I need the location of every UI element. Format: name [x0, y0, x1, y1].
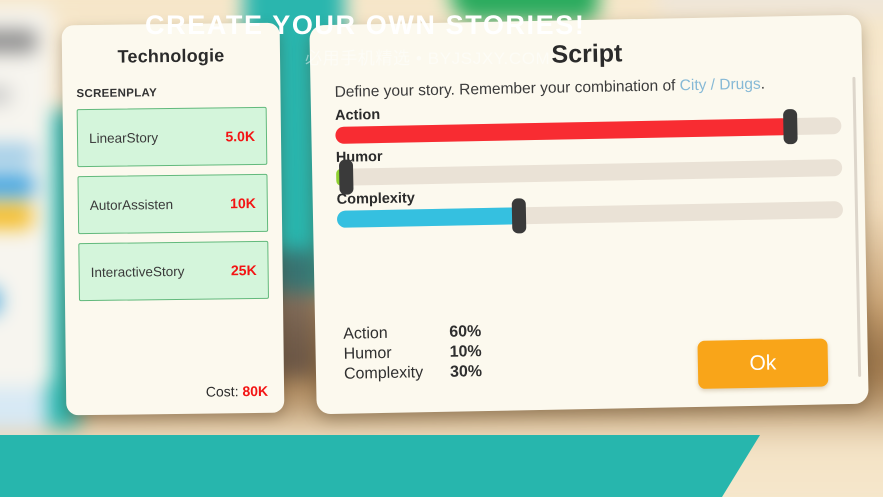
description-suffix: .: [761, 76, 766, 93]
technology-item-cost: 25K: [231, 262, 257, 278]
stat-row: Humor 10%: [343, 343, 481, 364]
technology-item-cost: 5.0K: [225, 128, 255, 144]
slider-action-thumb[interactable]: [783, 109, 798, 144]
stat-value: 60%: [449, 323, 481, 342]
slider-complexity-thumb[interactable]: [512, 198, 527, 233]
promo-banner-watermark: 必用手机精选 • BYJSJXY.COM: [305, 44, 550, 69]
stat-row: Action 60%: [343, 323, 481, 344]
promo-banner-headline: Create your own stories!: [145, 10, 585, 41]
technology-item-cost: 10K: [230, 195, 256, 211]
technology-total-cost-label: Cost:: [206, 383, 239, 399]
slider-action: Action: [335, 98, 842, 144]
technology-item-name: AutorAssisten: [90, 196, 173, 212]
technology-total-cost: Cost: 80K: [206, 383, 268, 400]
technology-item[interactable]: AutorAssisten 10K: [77, 174, 268, 234]
background-blob: [0, 203, 33, 228]
slider-humor-thumb[interactable]: [339, 160, 354, 195]
stat-row: Complexity 30%: [344, 363, 482, 384]
screenshot-stage: Technologie SCREENPLAY LinearStory 5.0K …: [0, 0, 883, 497]
technology-total-cost-value: 80K: [242, 383, 268, 399]
promo-banner: [0, 435, 760, 497]
stat-value: 30%: [450, 363, 482, 382]
technology-section-label: SCREENPLAY: [76, 86, 266, 100]
dialog-scrollbar[interactable]: [852, 77, 861, 377]
slider-complexity: Complexity: [337, 182, 844, 228]
stat-key: Humor: [343, 344, 449, 364]
script-dialog-description: Define your story. Remember your combina…: [334, 74, 840, 102]
stat-key: Action: [343, 324, 449, 344]
background-blob: [0, 388, 48, 430]
script-dialog: Script Define your story. Remember your …: [309, 15, 868, 415]
technology-item-name: LinearStory: [89, 130, 158, 146]
technology-item[interactable]: InteractiveStory 25K: [78, 241, 269, 301]
description-prefix: Define your story. Remember your combina…: [334, 77, 679, 101]
technology-item-name: InteractiveStory: [91, 263, 185, 279]
slider-humor: Humor: [336, 140, 843, 186]
technology-item[interactable]: LinearStory 5.0K: [77, 107, 268, 167]
background-blob: [0, 30, 37, 53]
technology-panel-title: Technologie: [76, 45, 266, 68]
script-stats: Action 60% Humor 10% Complexity 30%: [343, 323, 482, 386]
technology-panel: Technologie SCREENPLAY LinearStory 5.0K …: [62, 23, 285, 416]
stat-value: 10%: [449, 343, 481, 362]
combination-link[interactable]: City / Drugs: [680, 76, 761, 95]
slider-complexity-fill: [337, 207, 519, 227]
background-blob: [0, 144, 35, 165]
stat-key: Complexity: [344, 364, 450, 384]
ok-button[interactable]: Ok: [697, 338, 828, 388]
background-blob: [0, 174, 35, 197]
